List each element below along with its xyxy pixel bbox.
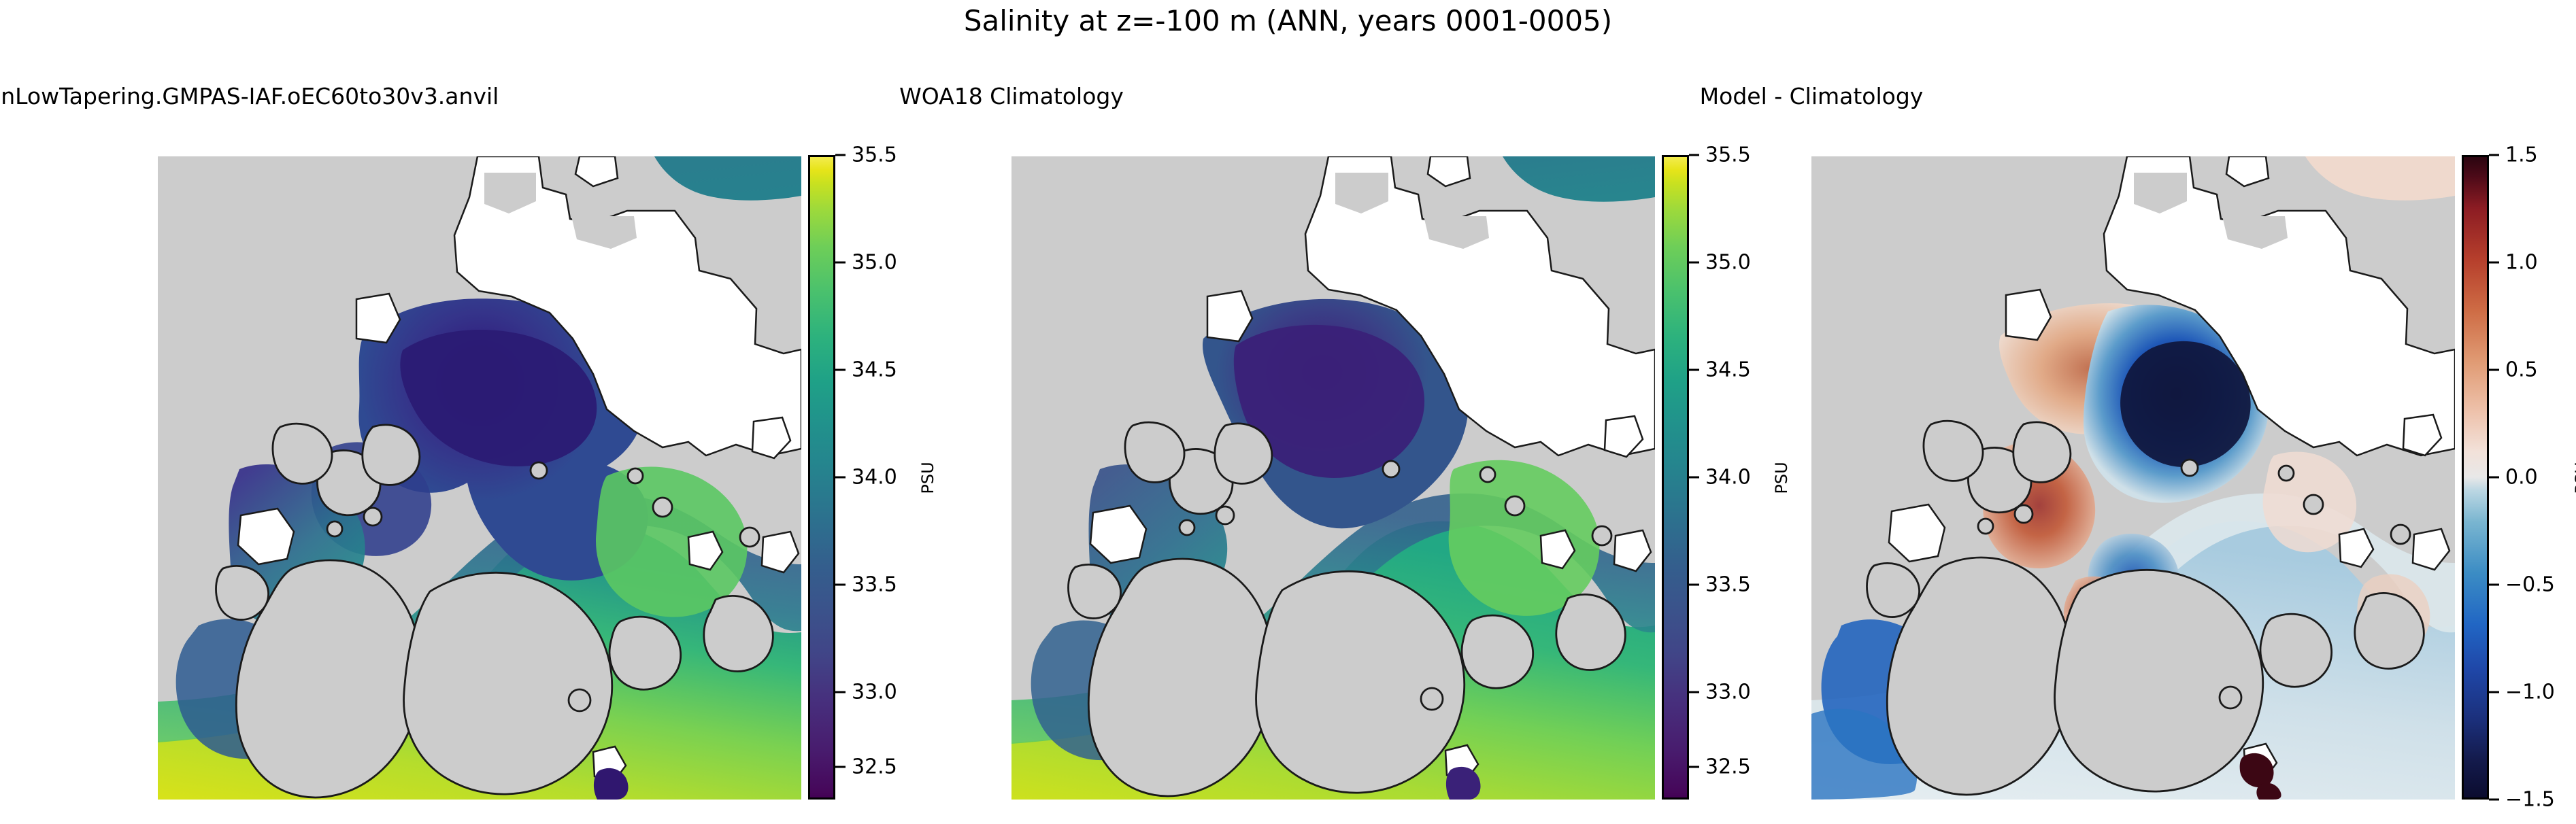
figure-suptitle: Salinity at z=-100 m (ANN, years 0001-00… <box>0 4 2576 37</box>
colorbar-tick <box>835 154 846 156</box>
colorbar-tick <box>2489 154 2499 156</box>
bias-negative-deepest <box>2120 341 2251 467</box>
colorbar-tick <box>1689 766 1699 768</box>
colorbar-tick-label: 1.5 <box>2505 143 2538 167</box>
colorbar-tick <box>835 584 846 586</box>
colorbar-tick-label: 33.5 <box>852 573 897 597</box>
colorbar-tick <box>2489 799 2499 801</box>
colorbar-tick-label: 1.0 <box>2505 251 2538 275</box>
colorbar-tick <box>1689 584 1699 586</box>
map-model[interactable] <box>158 156 801 800</box>
colorbar-tick-label: 33.0 <box>1705 681 1751 704</box>
colorbar-tick <box>835 691 846 693</box>
colorbar-tick-label: 35.0 <box>1705 251 1751 275</box>
colorbar-tick <box>1689 154 1699 156</box>
colorbar-tick <box>2489 262 2499 264</box>
panel-model-title: 20200122.RedionLowTapering.GMPAS-IAF.oEC… <box>0 83 499 109</box>
map-climatology-svg <box>1011 156 1655 800</box>
colorbar-tick <box>2489 584 2499 586</box>
colorbar-tick-label: 34.5 <box>852 358 897 382</box>
colorbar-tick <box>835 766 846 768</box>
colorbar-tick-label: 33.0 <box>852 681 897 704</box>
colorbar-tick <box>835 369 846 371</box>
colorbar-tick-label: −0.5 <box>2505 573 2555 597</box>
colorbar-tick <box>1689 477 1699 479</box>
colorbar-tick <box>2489 369 2499 371</box>
colorbar-axis-label: PSU <box>918 462 937 494</box>
map-difference[interactable] <box>1811 156 2455 800</box>
colorbar-tick-label: 35.0 <box>852 251 897 275</box>
colorbar-tick-label: 0.0 <box>2505 466 2538 490</box>
colorbar-tick-label: 35.5 <box>852 143 897 167</box>
map-model-svg <box>158 156 801 800</box>
colorbar-axis-label: PSU <box>2572 462 2576 494</box>
colorbar-tick <box>2489 691 2499 693</box>
colorbar-tick-label: 34.0 <box>1705 466 1751 490</box>
colorbar-difference[interactable]: 1.5 1.0 0.5 0.0 −0.5 −1.0 −1.5 PSU <box>2462 155 2576 801</box>
colorbar-axis-label: PSU <box>1772 462 1791 494</box>
colorbar-climatology[interactable]: 35.5 35.0 34.5 34.0 33.5 33.0 32.5 PSU <box>1662 155 1798 801</box>
colorbar-model[interactable]: 35.5 35.0 34.5 34.0 33.5 33.0 32.5 PSU <box>808 155 944 801</box>
panel-difference-title: Model - Climatology <box>1700 83 1924 109</box>
colorbar-tick <box>1689 262 1699 264</box>
colorbar-tick-label: −1.0 <box>2505 681 2555 704</box>
colorbar-tick-label: 34.5 <box>1705 358 1751 382</box>
colorbar-tick <box>1689 691 1699 693</box>
figure-canvas: Salinity at z=-100 m (ANN, years 0001-00… <box>0 0 2576 824</box>
colorbar-climatology-gradient <box>1662 155 1689 800</box>
colorbar-tick-label: 34.0 <box>852 466 897 490</box>
colorbar-model-gradient <box>808 155 835 800</box>
colorbar-tick <box>1689 369 1699 371</box>
colorbar-tick <box>835 262 846 264</box>
colorbar-tick-label: 32.5 <box>1705 755 1751 779</box>
colorbar-tick <box>835 477 846 479</box>
colorbar-tick-label: 35.5 <box>1705 143 1751 167</box>
colorbar-tick-label: 0.5 <box>2505 358 2538 382</box>
colorbar-tick-label: 32.5 <box>852 755 897 779</box>
map-climatology[interactable] <box>1011 156 1655 800</box>
colorbar-tick-label: −1.5 <box>2505 788 2555 812</box>
panel-climatology-title: WOA18 Climatology <box>899 83 1124 109</box>
colorbar-tick-label: 33.5 <box>1705 573 1751 597</box>
colorbar-tick <box>2489 477 2499 479</box>
map-difference-svg <box>1811 156 2455 800</box>
colorbar-difference-gradient <box>2462 155 2489 800</box>
